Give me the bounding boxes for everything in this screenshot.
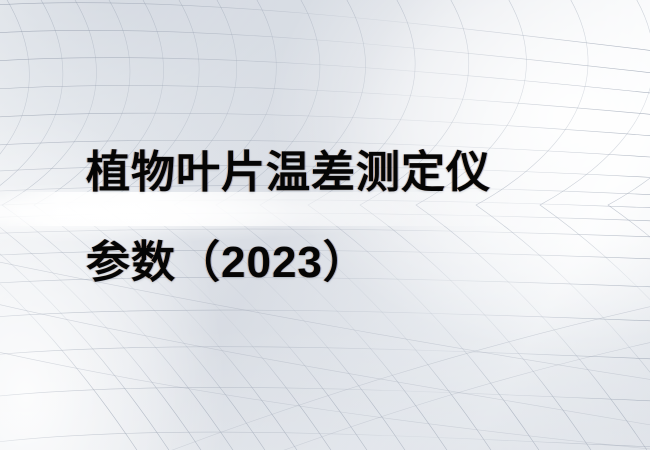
title-slide: 植物叶片温差测定仪 参数（2023）	[0, 0, 650, 450]
title-line-1: 植物叶片温差测定仪	[86, 128, 626, 218]
title-line-2: 参数（2023）	[86, 218, 626, 308]
title-block: 植物叶片温差测定仪 参数（2023）	[86, 128, 626, 308]
